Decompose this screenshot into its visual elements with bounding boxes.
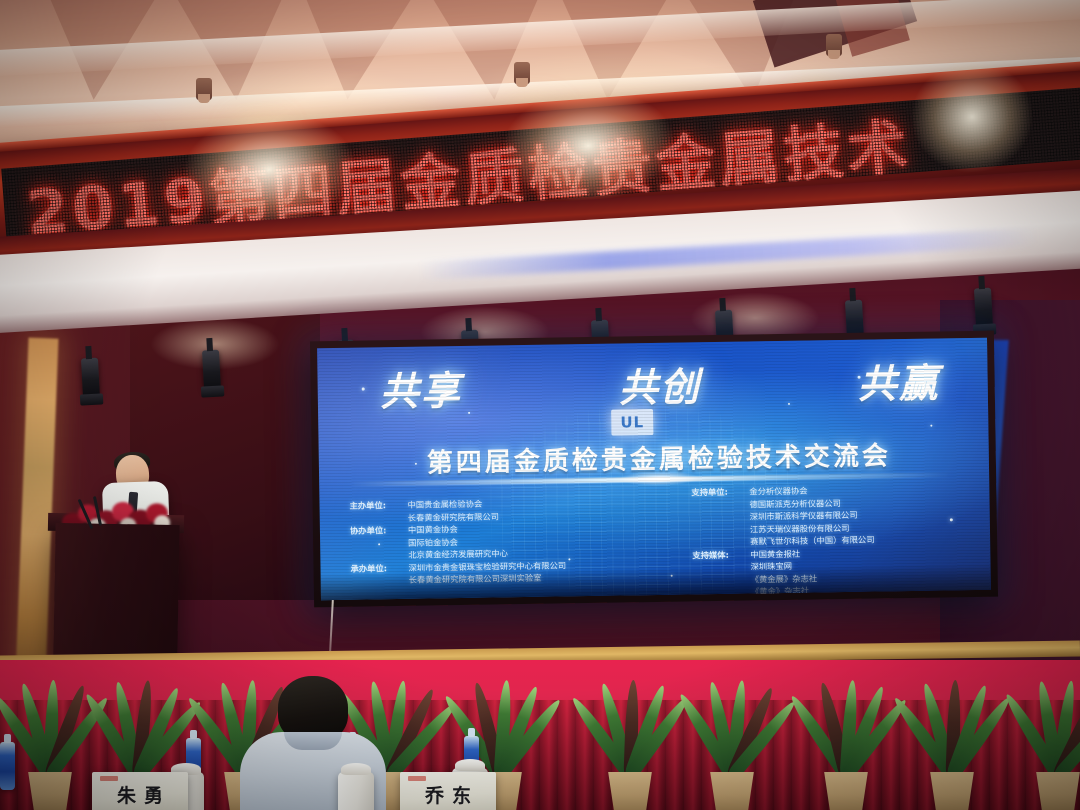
plant-pot [24,772,76,810]
ceiling-track-light-3 [826,34,842,56]
potted-plant [892,660,1012,810]
plant-pot [926,772,978,810]
calligraphy-word-3: 共赢 [857,353,940,410]
attendee-collar [284,732,342,750]
potted-plant [786,660,906,810]
credit-values: 中国贵金属检验协会 长春黄金研究院有限公司 [407,497,499,523]
credit-values: 中国黄金协会 国际铂金协会 北京黄金经济发展研究中心 [408,522,508,561]
stage-spotlight-8 [974,288,993,329]
credit-row: 协办单位: 中国黄金协会 国际铂金协会 北京黄金经济发展研究中心 [350,521,566,562]
credit-label: 主办单位: [349,499,407,512]
placard-name-text: 朱勇 [109,781,171,808]
calligraphy-word-2: 共创 [618,356,701,413]
conference-stage-photo: 2019第四届金质检贵金属技术 [0,0,1080,810]
plant-pot [1032,772,1080,810]
tea-cup[interactable] [338,772,374,810]
credit-label: 支持单位: [691,486,749,499]
stage-spotlight-2 [202,350,221,391]
plant-pot [604,772,656,810]
credit-row: 主办单位: 中国贵金属检验协会 长春黄金研究院有限公司 [349,496,565,524]
credit-label: 支持媒体: [692,548,750,561]
ceiling-track-light-1 [196,78,212,100]
plant-pot [820,772,872,810]
potted-plant [672,660,792,810]
placard-name-text: 乔东 [417,781,479,808]
credit-value: 中国黄金报社 [750,547,817,561]
credit-label: 协办单位: [350,524,408,537]
credit-value: 深圳市斯派科学仪器有限公司 [750,509,875,523]
name-placard-right: 乔东 [400,772,496,810]
name-placard-left: 朱勇 [92,772,188,810]
stage-spotlight-1 [81,358,100,399]
plant-pot [706,772,758,810]
placard-tab [408,776,426,781]
main-screen-bezel: 共享 共创 共赢 UL 第四届金质检贵金属检验技术交流会 主办单位: 中国贵金属… [310,331,998,608]
screen-logo: UL [611,409,653,436]
screen-calligraphy: 共享 共创 共赢 [379,353,940,418]
credit-row: 支持单位: 金分析仪器协会 德国斯派克分析仪器公司 深圳市斯派科学仪器有限公司 … [691,484,874,549]
credit-value: 赛默飞世尔科技（中国）有限公司 [750,534,875,548]
main-screen[interactable]: 共享 共创 共赢 UL 第四届金质检贵金属检验技术交流会 主办单位: 中国贵金属… [317,338,991,600]
potted-plant [998,660,1080,810]
ceiling-track-light-2 [514,62,530,84]
water-bottle[interactable] [0,742,15,790]
credit-values: 金分析仪器协会 德国斯派克分析仪器公司 深圳市斯派科学仪器有限公司 江苏天瑞仪器… [749,484,874,548]
placard-tab [100,776,118,781]
calligraphy-word-1: 共享 [379,360,462,417]
